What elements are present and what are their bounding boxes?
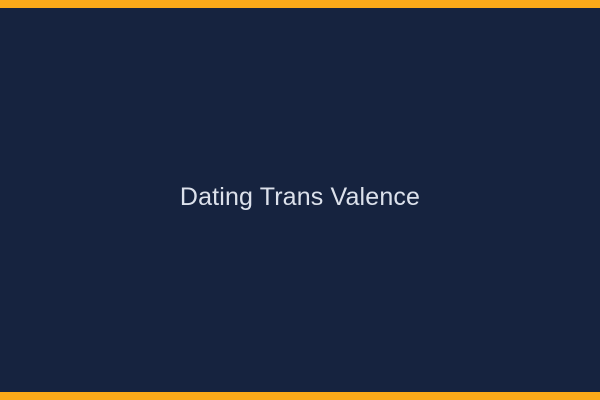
title-container: Dating Trans Valence bbox=[0, 0, 600, 400]
placeholder-card: Dating Trans Valence bbox=[0, 0, 600, 400]
bottom-accent-bar bbox=[0, 392, 600, 400]
page-title: Dating Trans Valence bbox=[180, 182, 420, 212]
